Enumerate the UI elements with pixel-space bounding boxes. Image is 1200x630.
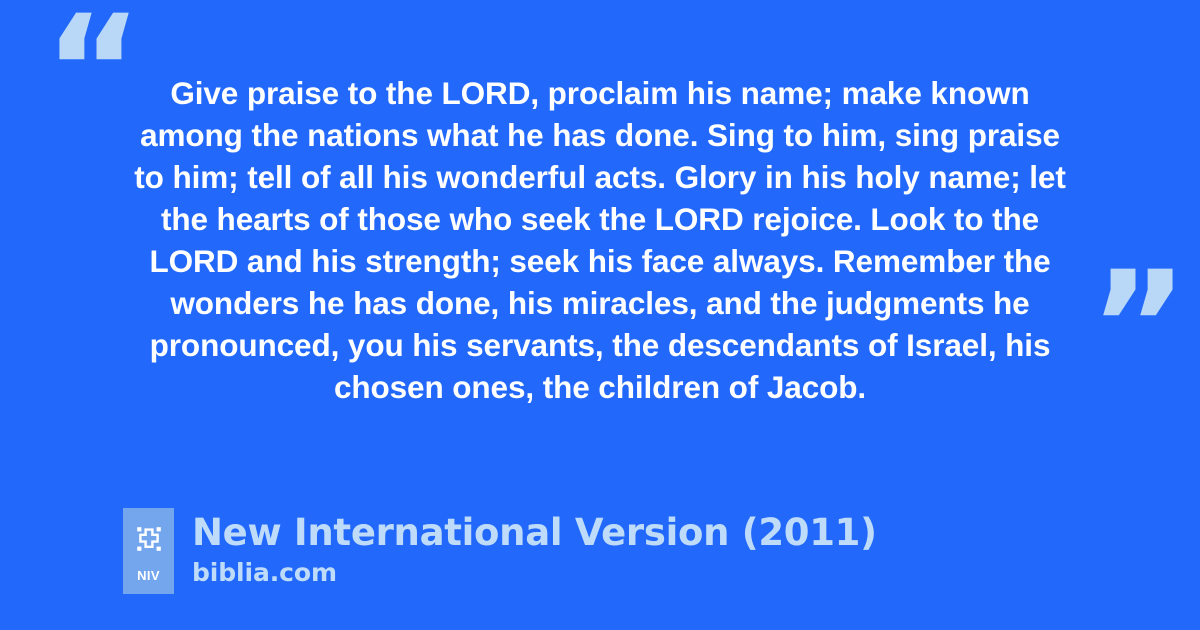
bible-version-title: New International Version (2011) [192,510,877,555]
attribution: NIV New International Version (2011) bib… [123,508,877,594]
attribution-text: New International Version (2011) biblia.… [192,508,877,588]
cross-crop-marks-icon [134,524,164,559]
version-badge: NIV [123,508,174,594]
quote-text: Give praise to the LORD, proclaim his na… [122,72,1078,408]
bible-verse-card: “ Give praise to the LORD, proclaim his … [0,0,1200,630]
version-badge-label: NIV [137,568,160,583]
closing-quote-icon: ” [1089,252,1188,402]
site-name[interactable]: biblia.com [192,558,877,588]
